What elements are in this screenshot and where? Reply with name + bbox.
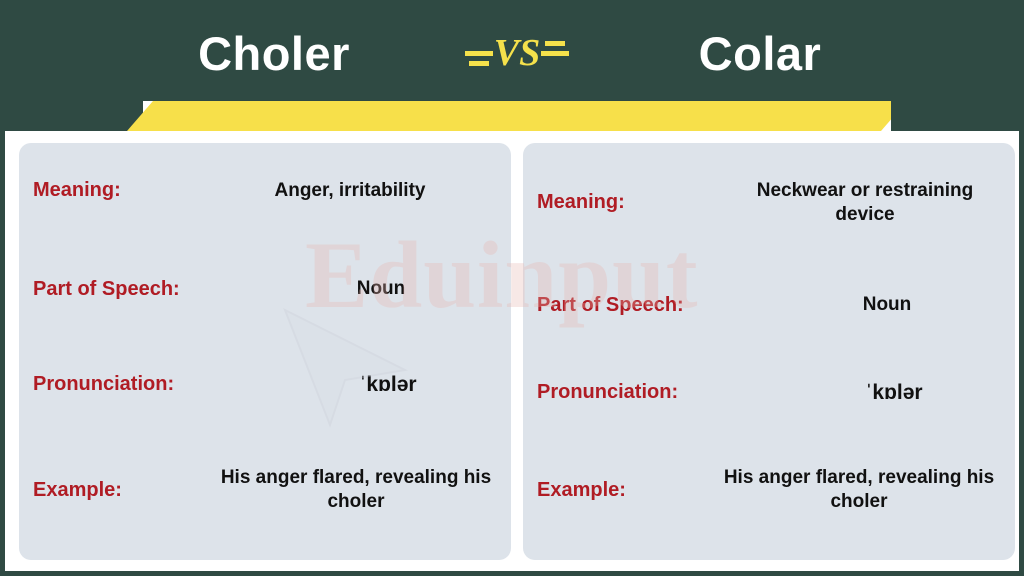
- pronunciation-label: Pronunciation:: [537, 381, 787, 404]
- example-value: His anger flared, revealing his choler: [215, 466, 497, 514]
- cards-container: Meaning: Anger, irritability Part of Spe…: [5, 131, 1024, 576]
- left-term-title: Choler: [109, 26, 439, 81]
- table-row: Meaning: Neckwear or restraining device: [537, 179, 1001, 227]
- vs-dash-left-upper-icon: [465, 51, 493, 56]
- example-label: Example:: [537, 479, 717, 502]
- bottom-edge: [5, 565, 1024, 571]
- accent-banner: [5, 101, 1024, 131]
- vs-dash-right-lower-icon: [541, 51, 569, 56]
- meaning-label: Meaning:: [33, 179, 203, 202]
- right-term-title: Colar: [595, 26, 925, 81]
- part-of-speech-label: Part of Speech:: [537, 294, 773, 317]
- left-term-card: Meaning: Anger, irritability Part of Spe…: [19, 143, 511, 560]
- table-row: Pronunciation: ˈkɒlər: [33, 372, 497, 398]
- vs-dash-right-upper-icon: [545, 41, 565, 46]
- part-of-speech-value: Noun: [773, 293, 1001, 317]
- table-row: Example: His anger flared, revealing his…: [537, 466, 1001, 514]
- table-row: Meaning: Anger, irritability: [33, 179, 497, 203]
- table-row: Example: His anger flared, revealing his…: [33, 466, 497, 514]
- banner-left-block: [5, 101, 143, 131]
- table-row: Part of Speech: Noun: [33, 277, 497, 301]
- vs-dash-left-lower-icon: [469, 61, 489, 66]
- part-of-speech-label: Part of Speech:: [33, 278, 265, 301]
- example-label: Example:: [33, 479, 215, 502]
- meaning-value: Anger, irritability: [203, 179, 497, 203]
- meaning-label: Meaning:: [537, 191, 729, 214]
- banner-right-block: [891, 101, 1024, 131]
- vs-label: VS: [494, 31, 540, 75]
- part-of-speech-value: Noun: [265, 277, 497, 301]
- pronunciation-value: ˈkɒlər: [787, 380, 1001, 406]
- example-value: His anger flared, revealing his choler: [717, 466, 1001, 514]
- pronunciation-label: Pronunciation:: [33, 373, 279, 396]
- banner-yellow-shape: [127, 101, 907, 131]
- table-row: Part of Speech: Noun: [537, 293, 1001, 317]
- right-term-card: Meaning: Neckwear or restraining device …: [523, 143, 1015, 560]
- pronunciation-value: ˈkɒlər: [279, 372, 497, 398]
- comparison-infographic: Choler VS Colar Meaning: Anger, irritabi…: [0, 0, 1024, 576]
- header-content: Choler VS Colar: [5, 5, 1024, 101]
- meaning-value: Neckwear or restraining device: [729, 179, 1001, 227]
- table-row: Pronunciation: ˈkɒlər: [537, 380, 1001, 406]
- header-bar: Choler VS Colar: [5, 5, 1024, 101]
- versus-badge: VS: [457, 23, 577, 83]
